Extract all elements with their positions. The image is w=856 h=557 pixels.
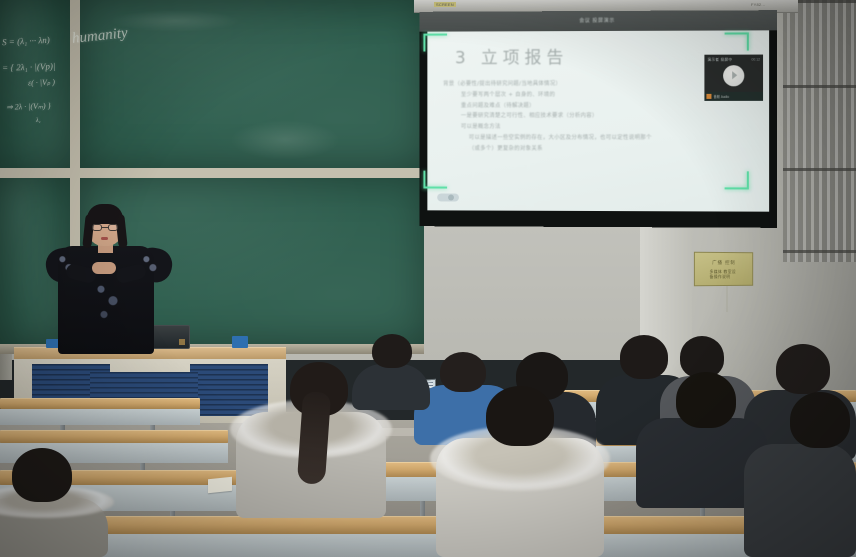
rail-label-left: SCREEN [434,2,456,7]
presenter-glasses [92,224,118,231]
podium-blue-item [232,336,248,348]
slide-body-line: （或多个）更复杂的对象关系 [443,144,753,155]
rail-label-right: FY82... [749,2,767,7]
chalk-smudge [110,10,240,32]
student-head [620,335,668,379]
desk-front [0,534,856,557]
student-head [776,344,830,394]
desk[interactable] [0,398,200,409]
student-head [372,334,412,368]
student-coat [744,444,856,557]
participant-timestamp: 00:12 [751,58,760,62]
projection-screen[interactable]: 会议 投屏演示 3 立项报告 背景（必要性/提出待研究问题/当地具体情况）至少要… [419,10,777,228]
participant-name: 演示者 投屏中 [707,58,732,63]
video-tile-statusbar: 音频 Audio [704,92,763,101]
classroom-photo: S = (λ₁ ··· λn)humanity= { 2λ₁ · |(Vp)|ε… [0,0,856,557]
presenter-hands [92,262,116,274]
plaque-line-1: 广播 控制 [712,260,736,266]
presenter-mouth [101,237,108,240]
chalkboard-panel-top-left [0,0,70,168]
wall-plaque: 广播 控制 多媒体 教室设备操作说明 [694,252,753,287]
slide-body-line: 可以是描述一些空实例的存在，大小区及分布情况，也可以定性说明那个 [443,133,753,144]
desk-front [0,409,200,425]
plaque-line-2: 多媒体 教室设备操作说明 [710,270,739,280]
paper-sheet [208,477,232,494]
student-head [790,392,850,448]
student-head [486,386,554,446]
desk[interactable] [0,516,856,534]
slide-nav-chip[interactable] [437,193,459,201]
presenter-coat-pattern [92,280,122,326]
student-head [676,372,736,428]
slide-title: 3 立项报告 [455,43,568,68]
chalk-smudge [230,120,340,160]
presentation-toolbar[interactable]: 会议 投屏演示 [419,10,777,31]
slide-body-line: 重点问题及难点（待解决题） [443,100,753,111]
plaque-conduit [726,286,728,312]
avatar [723,65,744,86]
barred-window [783,0,856,262]
mic-muted-icon [706,94,711,99]
student-head [12,448,72,502]
desk[interactable] [0,430,228,443]
slide: 3 立项报告 背景（必要性/提出待研究问题/当地具体情况）至少要写两个层次 + … [427,30,769,211]
slide-body-line: 可以是概念方法 [443,122,753,133]
presentation-toolbar-title: 会议 投屏演示 [579,17,615,24]
video-participant-tile[interactable]: 演示者 投屏中 00:12 音频 Audio [704,55,763,101]
slide-body-line: 一是要研究清楚之可行性、相应技术要求（分析内容） [443,111,753,122]
student-head [440,352,486,392]
student-coat [352,364,430,410]
audio-label: 音频 Audio [713,94,729,99]
